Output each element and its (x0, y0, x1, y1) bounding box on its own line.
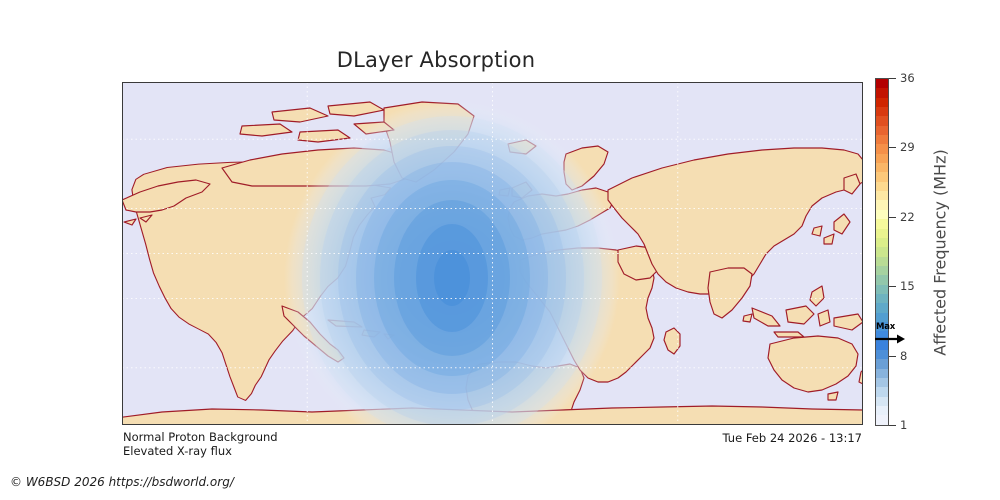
colorbar-tick-8 (889, 356, 896, 357)
colorbar-band-22 (876, 285, 888, 294)
colorbar-band-8 (876, 154, 888, 163)
colorbar-band-4 (876, 116, 888, 125)
colorbar-label-29: 29 (900, 140, 915, 154)
footer-credit: © W6BSD 2026 https://bsdworld.org/ (10, 475, 234, 489)
colorbar-band-16 (876, 229, 888, 238)
colorbar-label-22: 22 (900, 210, 915, 224)
colorbar-band-0 (876, 79, 888, 88)
colorbar-tick-29 (889, 147, 896, 148)
colorbar-band-20 (876, 266, 888, 275)
xray-flux-note: Elevated X-ray flux (123, 444, 232, 458)
colorbar-band-36 (876, 415, 888, 424)
colorbar-label-8: 8 (900, 349, 907, 363)
colorbar-band-14 (876, 210, 888, 219)
colorbar-band-2 (876, 98, 888, 107)
tasmania (828, 392, 838, 400)
colorbar-band-21 (876, 275, 888, 284)
map-canvas (122, 82, 863, 425)
colorbar-label-1: 1 (900, 418, 907, 432)
max-arrow-icon (875, 334, 905, 344)
colorbar-gradient (875, 78, 889, 426)
max-marker-label: Max (876, 322, 895, 332)
colorbar-label-15: 15 (900, 279, 915, 293)
colorbar-tick-22 (889, 217, 896, 218)
colorbar-band-34 (876, 397, 888, 406)
world-map-plot (122, 82, 863, 425)
timestamp: Tue Feb 24 2026 - 13:17 (0, 431, 862, 445)
map-svg (122, 82, 863, 425)
colorbar-band-15 (876, 219, 888, 228)
colorbar-band-29 (876, 350, 888, 359)
colorbar-band-31 (876, 369, 888, 378)
colorbar-band-6 (876, 135, 888, 144)
colorbar-band-3 (876, 107, 888, 116)
colorbar-band-33 (876, 387, 888, 396)
colorbar-band-13 (876, 200, 888, 209)
colorbar-band-17 (876, 238, 888, 247)
colorbar-band-19 (876, 257, 888, 266)
colorbar-band-7 (876, 144, 888, 153)
colorbar-band-30 (876, 359, 888, 368)
colorbar-tick-36 (889, 78, 896, 79)
java (774, 332, 804, 337)
colorbar-band-24 (876, 303, 888, 312)
colorbar-band-5 (876, 126, 888, 135)
colorbar (875, 78, 889, 426)
colorbar-tick-1 (889, 425, 896, 426)
colorbar-band-12 (876, 191, 888, 200)
max-absorption-marker: Max (875, 322, 909, 346)
colorbar-tick-15 (889, 286, 896, 287)
colorbar-band-23 (876, 294, 888, 303)
colorbar-band-1 (876, 88, 888, 97)
dlayer-absorption-map-page: DLayer Absorption (0, 0, 1000, 500)
colorbar-axis-title-text: Affected Frequency (MHz) (931, 149, 950, 355)
colorbar-axis-title: Affected Frequency (MHz) (929, 78, 951, 426)
colorbar-band-18 (876, 247, 888, 256)
colorbar-band-11 (876, 182, 888, 191)
colorbar-band-32 (876, 378, 888, 387)
colorbar-band-25 (876, 313, 888, 322)
colorbar-label-36: 36 (900, 71, 915, 85)
colorbar-band-9 (876, 163, 888, 172)
colorbar-band-35 (876, 406, 888, 415)
colorbar-band-10 (876, 172, 888, 181)
page-title: DLayer Absorption (0, 48, 872, 72)
